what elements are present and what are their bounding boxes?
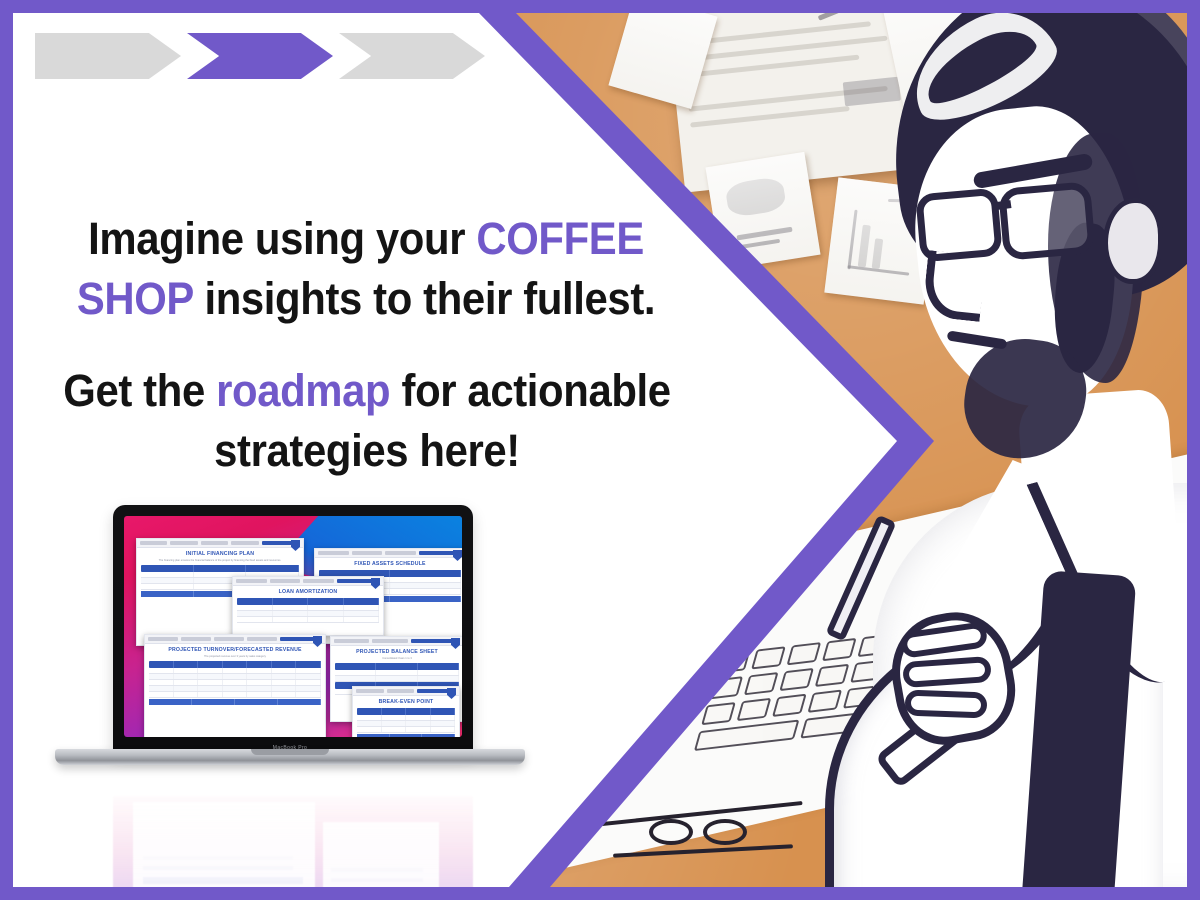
document-loan-amortization[interactable]: LOAN AMORTIZATION — [232, 576, 384, 636]
document-title: FIXED ASSETS SCHEDULE — [315, 558, 462, 569]
headline-text-tail: insights to their fullest. — [193, 273, 655, 324]
table-row — [237, 617, 379, 623]
ribbon-chip — [372, 639, 407, 643]
figure-finger — [905, 690, 988, 719]
table-header-row — [357, 708, 455, 715]
chevron-step-2[interactable] — [187, 33, 333, 79]
ribbon-chip — [214, 637, 244, 641]
document-ribbon — [331, 637, 462, 646]
reflection-document — [323, 822, 439, 887]
reflection-screen — [113, 796, 473, 887]
document-ribbon — [137, 539, 303, 548]
ribbon-chip — [170, 541, 197, 545]
headline-text-lead: Imagine using your — [88, 213, 476, 264]
reflection-document — [133, 802, 315, 887]
ribbon-chip — [318, 551, 349, 555]
document-title: PROJECTED BALANCE SHEET — [331, 646, 462, 657]
document-table — [149, 661, 321, 705]
document-title: INITIAL FINANCING PLAN — [137, 548, 303, 559]
document-break-even-point[interactable]: BREAK-EVEN POINT — [352, 686, 460, 737]
laptop-reflection — [55, 781, 525, 887]
document-subtitle: The financing plan ensures the financial… — [137, 559, 303, 564]
headline-accent-coffee: COFFEE — [476, 213, 644, 264]
laptop-screen: INITIAL FINANCING PLAN The financing pla… — [124, 516, 462, 737]
laptop-lid: INITIAL FINANCING PLAN The financing pla… — [113, 505, 473, 753]
ribbon-chip — [140, 541, 167, 545]
subheadline-accent-roadmap: roadmap — [216, 365, 390, 416]
document-ribbon — [353, 687, 459, 696]
slide-canvas: Imagine using your COFFEE SHOP insights … — [13, 13, 1187, 887]
chevron-progress-strip — [35, 33, 485, 79]
document-title: PROJECTED TURNOVER/FORECASTED REVENUE — [145, 644, 325, 655]
ribbon-chip — [303, 579, 334, 583]
ribbon-chip — [387, 689, 415, 693]
document-subtitle: Consolidated Years 1 to 3 — [331, 657, 462, 662]
table-header-row — [335, 663, 459, 670]
document-table — [357, 708, 455, 737]
document-subtitle: The projected revenue over 3 years by sa… — [145, 655, 325, 660]
table-total-row — [357, 734, 455, 737]
subheadline-text-lead: Get the — [63, 365, 216, 416]
ribbon-chip — [236, 579, 267, 583]
document-ribbon — [315, 549, 462, 558]
ribbon-chip — [231, 541, 258, 545]
laptop-mockup: INITIAL FINANCING PLAN The financing pla… — [55, 505, 525, 887]
laptop-base — [55, 749, 525, 765]
headline-accent-shop: SHOP — [77, 273, 193, 324]
table-row — [357, 727, 455, 733]
document-table — [237, 598, 379, 623]
chevron-step-3[interactable] — [339, 33, 485, 79]
table-header-row — [149, 661, 321, 668]
document-ribbon — [233, 577, 383, 586]
ribbon-chip — [148, 637, 178, 641]
ribbon-chip — [385, 551, 416, 555]
table-header-row — [141, 565, 299, 572]
ribbon-chip — [247, 637, 277, 641]
ribbon-chip — [201, 541, 228, 545]
document-title: BREAK-EVEN POINT — [353, 696, 459, 707]
chevron-step-1[interactable] — [35, 33, 181, 79]
table-total-row — [149, 699, 321, 705]
ribbon-chip — [181, 637, 211, 641]
ribbon-chip — [334, 639, 369, 643]
eyeglasses-lens-back — [998, 181, 1096, 261]
ribbon-chip — [352, 551, 383, 555]
table-header-row — [237, 598, 379, 605]
figure-ear — [1103, 198, 1163, 284]
table-row — [149, 692, 321, 698]
headline: Imagine using your COFFEE SHOP insights … — [73, 209, 659, 330]
subheadline: Get the roadmap for actionable strategie… — [60, 361, 674, 482]
ribbon-chip — [270, 579, 301, 583]
document-ribbon — [145, 635, 325, 644]
ribbon-chip — [356, 689, 384, 693]
slide-frame: Imagine using your COFFEE SHOP insights … — [0, 0, 1200, 900]
document-title: LOAN AMORTIZATION — [233, 586, 383, 597]
document-projected-turnover[interactable]: PROJECTED TURNOVER/FORECASTED REVENUE Th… — [144, 634, 326, 737]
laptop-notch — [251, 749, 329, 755]
